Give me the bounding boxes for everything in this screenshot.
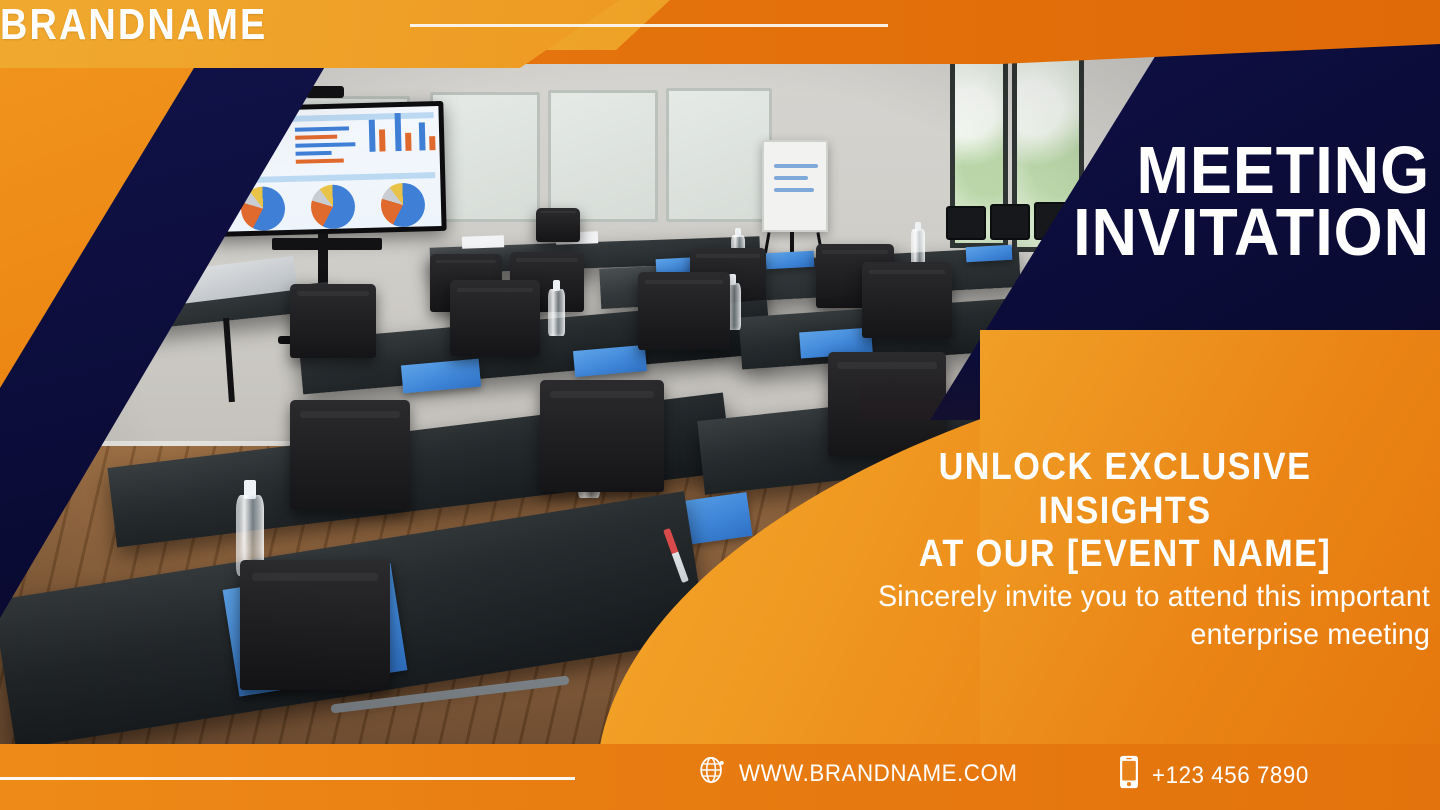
website-text: WWW.BRANDNAME.COM bbox=[739, 760, 1018, 788]
website-contact[interactable]: WWW.BRANDNAME.COM bbox=[697, 755, 1039, 792]
headline: UNLOCK EXCLUSIVE INSIGHTS AT OUR [EVENT … bbox=[820, 446, 1430, 577]
page-title: MEETING INVITATION bbox=[900, 140, 1430, 263]
headline-line-2: AT OUR [EVENT NAME] bbox=[851, 533, 1400, 577]
phone-contact[interactable]: +123 456 7890 bbox=[1118, 755, 1321, 796]
mobile-phone-icon bbox=[1118, 755, 1140, 796]
subtext-line-2: enterprise meeting bbox=[822, 616, 1430, 654]
globe-icon bbox=[697, 755, 727, 792]
subtext-line-1: Sincerely invite you to attend this impo… bbox=[822, 578, 1430, 616]
subtext: Sincerely invite you to attend this impo… bbox=[790, 578, 1430, 653]
title-line-1: MEETING bbox=[932, 140, 1430, 202]
headline-line-1: UNLOCK EXCLUSIVE INSIGHTS bbox=[851, 446, 1400, 533]
title-line-2: INVITATION bbox=[932, 202, 1430, 264]
meeting-invitation-poster: BRANDNAME MEETING INVITATION UNLOCK EXCL… bbox=[0, 0, 1440, 810]
phone-text: +123 456 7890 bbox=[1152, 762, 1309, 790]
footer-rule bbox=[0, 777, 575, 780]
brand-name: BRANDNAME bbox=[0, 0, 1238, 50]
